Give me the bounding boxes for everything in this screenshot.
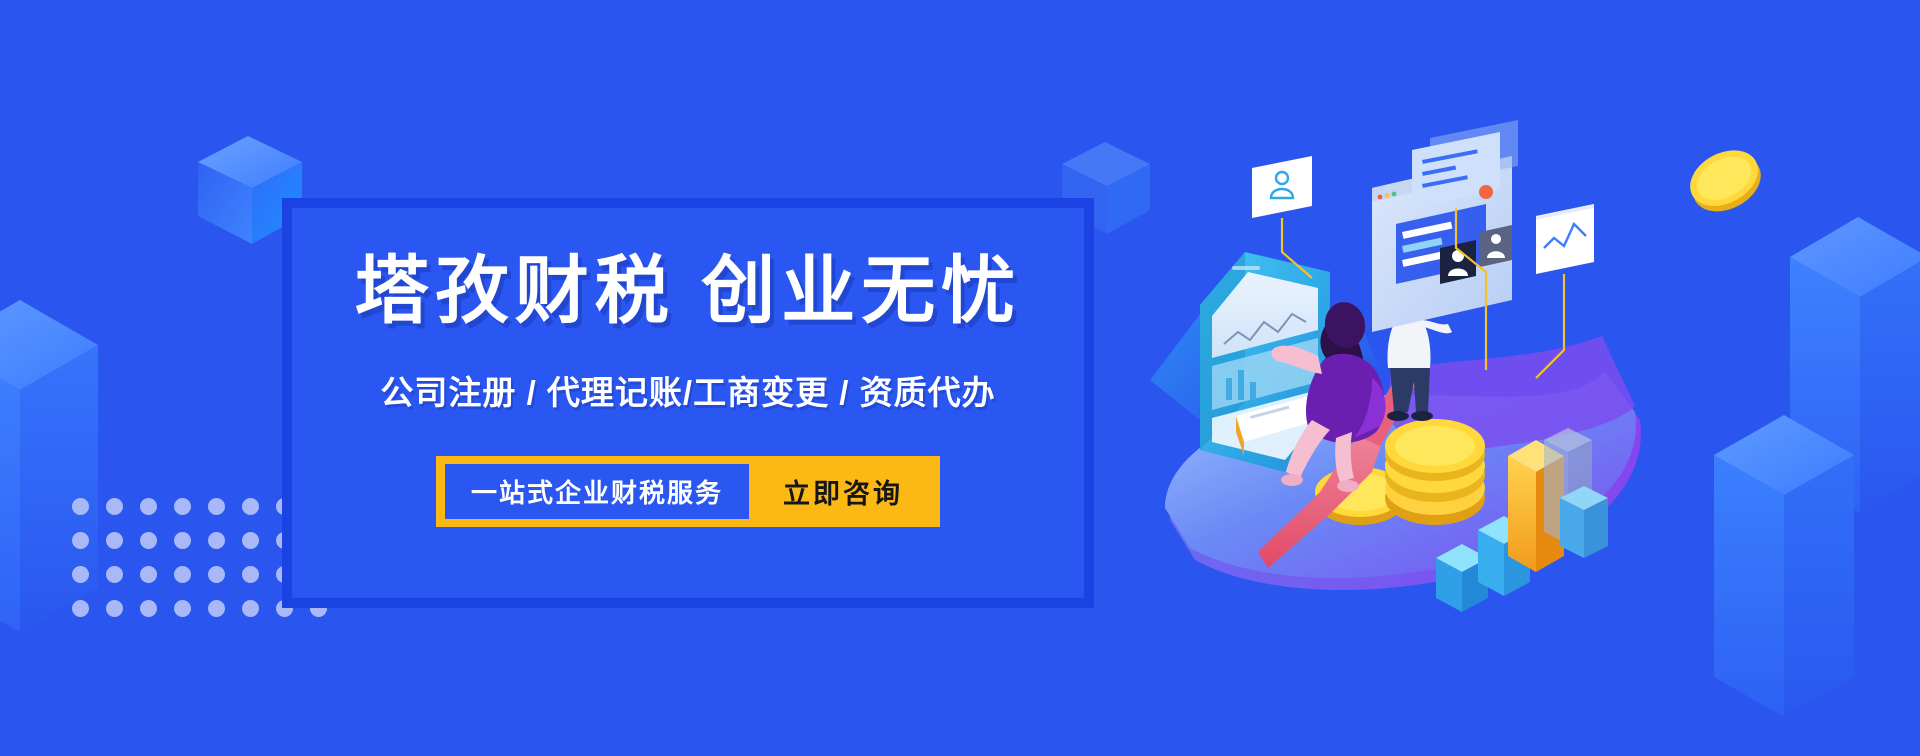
grid-dot — [140, 600, 157, 617]
cta-group[interactable]: 一站式企业财税服务 立即咨询 — [436, 456, 940, 527]
grid-dot — [208, 600, 225, 617]
banner-canvas: 塔孜财税 创业无忧 公司注册 / 代理记账/工商变更 / 资质代办 一站式企业财… — [0, 0, 1920, 756]
page-title: 塔孜财税 创业无忧 — [355, 252, 1022, 330]
grid-dot — [242, 498, 259, 515]
grid-dot — [174, 600, 191, 617]
grid-dot — [208, 498, 225, 515]
service-list: 公司注册 / 代理记账/工商变更 / 资质代办 — [380, 366, 995, 414]
hero-illustration — [1140, 120, 1700, 640]
grid-dot — [72, 498, 89, 515]
grid-dot — [242, 532, 259, 549]
grid-dot — [72, 600, 89, 617]
grid-dot — [106, 498, 123, 515]
floating-card-chart — [1536, 204, 1594, 274]
grid-dot — [208, 532, 225, 549]
grid-dot — [174, 498, 191, 515]
grid-dot — [72, 566, 89, 583]
grid-dot — [140, 566, 157, 583]
consult-now-button[interactable]: 立即咨询 — [749, 463, 931, 520]
cta-tagline: 一站式企业财税服务 — [445, 464, 749, 519]
grid-dot — [106, 600, 123, 617]
grid-dot — [174, 566, 191, 583]
floating-card-user — [1252, 156, 1312, 218]
grid-dot — [174, 532, 191, 549]
grid-dot — [242, 566, 259, 583]
headline-frame: 塔孜财税 创业无忧 公司注册 / 代理记账/工商变更 / 资质代办 一站式企业财… — [282, 198, 1094, 608]
grid-dot — [72, 532, 89, 549]
grid-dot — [106, 532, 123, 549]
grid-dot — [140, 498, 157, 515]
grid-dot — [106, 566, 123, 583]
grid-dot — [208, 566, 225, 583]
iso-pillar-right-lower — [1712, 395, 1912, 725]
grid-dot — [140, 532, 157, 549]
grid-dot — [242, 600, 259, 617]
